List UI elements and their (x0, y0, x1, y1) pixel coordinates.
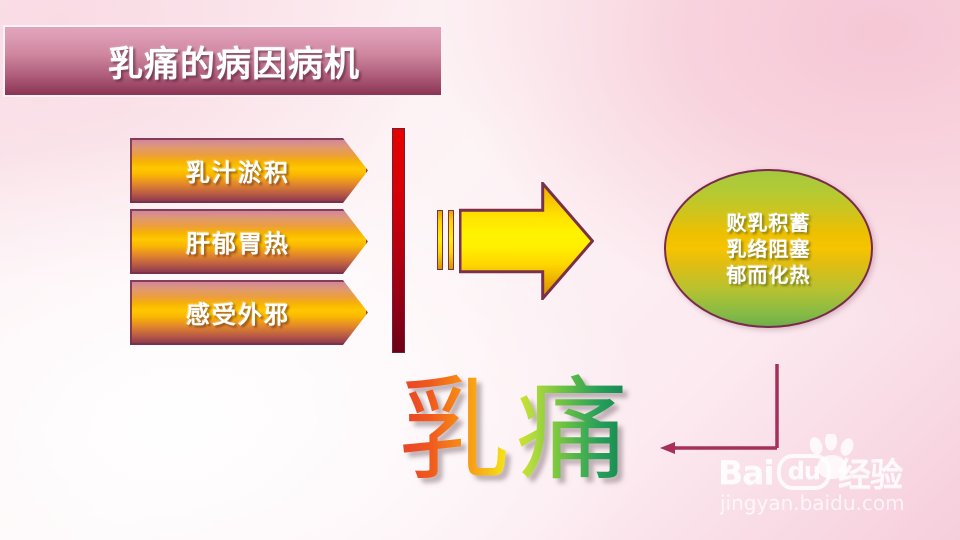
watermark-url: jingyan.baidu.com (720, 491, 905, 515)
result-ellipse[interactable]: 败乳积蓄 乳络阻塞 郁而化热 (664, 169, 873, 328)
arrowhead-left-icon (660, 442, 675, 454)
cause-chevron-label: 感受外邪 (186, 295, 290, 330)
yellow-right-arrow (437, 182, 594, 300)
cause-chevron-label: 肝郁胃热 (186, 224, 290, 259)
page-title: 乳痛的病因病机 (108, 36, 360, 87)
result-line-1: 败乳积蓄 (727, 210, 811, 236)
red-divider-bar (392, 128, 405, 353)
cause-chevron-2[interactable]: 肝郁胃热 (130, 209, 368, 274)
paw-print-icon (803, 434, 861, 480)
arrow-body (459, 182, 594, 300)
conclusion-word-text: 乳痛 (398, 370, 634, 495)
elbow-connector-arrow (650, 355, 800, 465)
arrow-tail-slice-1 (437, 210, 443, 270)
slide-canvas: 乳痛的病因病机 乳汁淤积 肝郁胃热 感受外邪 败乳积蓄 乳络阻塞 郁而化热 (0, 0, 960, 540)
result-line-2: 乳络阻塞 (727, 236, 811, 262)
cause-chevron-1[interactable]: 乳汁淤积 (130, 138, 368, 203)
conclusion-word: 乳痛 (396, 370, 646, 495)
watermark-jingyan-text: 经验 (838, 448, 902, 496)
slide-title-bar: 乳痛的病因病机 (3, 25, 443, 97)
cause-chevron-3[interactable]: 感受外邪 (130, 280, 368, 345)
arrow-tail-slice-2 (448, 210, 454, 270)
cause-chevron-label: 乳汁淤积 (186, 153, 290, 188)
result-line-3: 郁而化热 (727, 262, 811, 288)
